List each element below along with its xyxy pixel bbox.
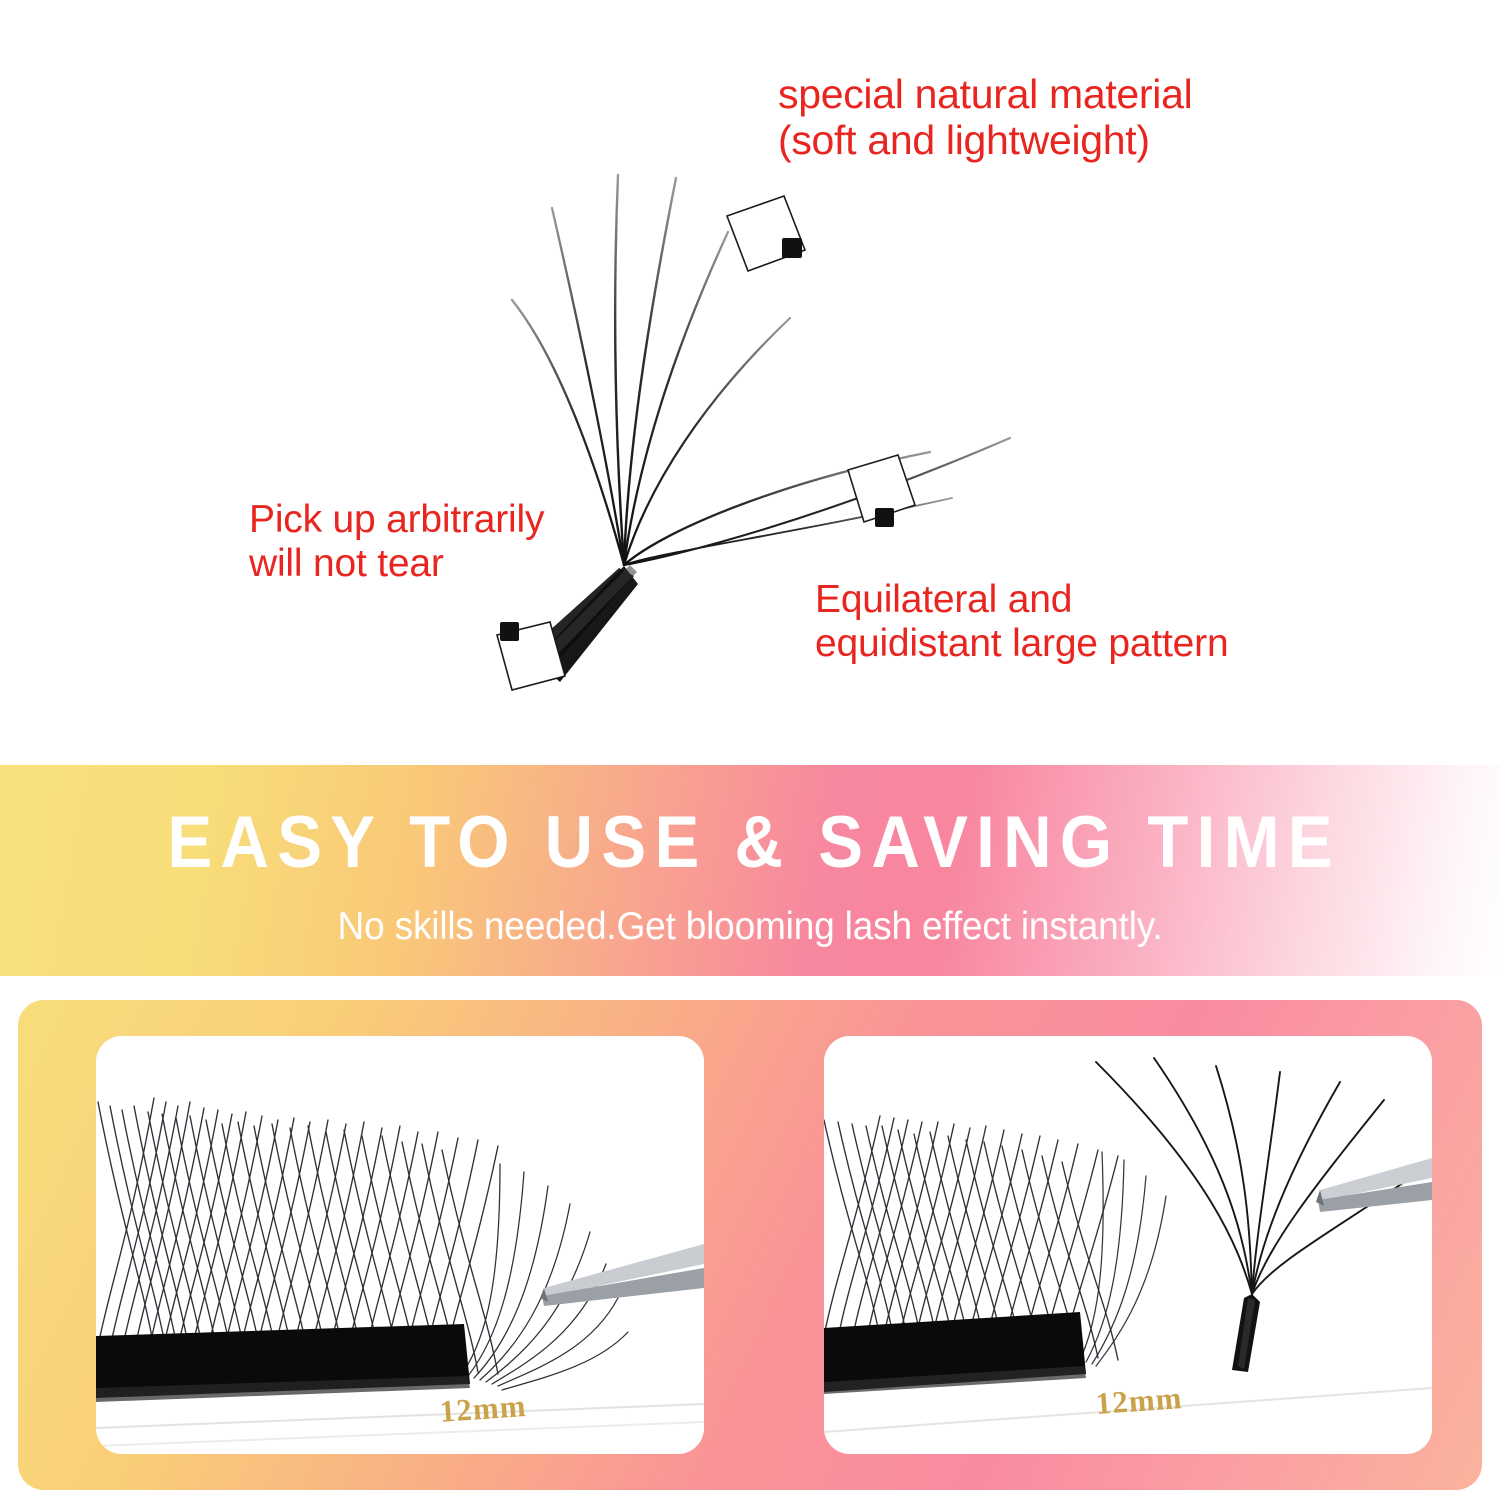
lifted-fan-photo: 12mm — [824, 1036, 1432, 1454]
callout-equilateral-pattern: Equilateral and equidistant large patter… — [815, 578, 1228, 665]
hero-section: special natural material (soft and light… — [0, 0, 1500, 765]
banner-headline: EASY TO USE & SAVING TIME — [60, 801, 1440, 884]
photo-card-lifted-fan-with-tweezers: 12mm — [824, 1036, 1432, 1454]
gallery-frame: 12mm — [18, 1000, 1482, 1490]
lash-fan-diagram — [0, 0, 1500, 765]
svg-text:12mm: 12mm — [439, 1388, 528, 1429]
svg-text:12mm: 12mm — [1095, 1380, 1184, 1421]
tray-size-caption: 12mm — [1095, 1380, 1184, 1421]
callout-marker-square-1 — [727, 196, 805, 271]
callout-pick-up-arbitrarily: Pick up arbitrarily will not tear — [249, 498, 544, 585]
product-feature-page: special natural material (soft and light… — [0, 0, 1500, 1500]
tray-size-caption: 12mm — [439, 1388, 528, 1429]
lash-tray-photo: 12mm — [96, 1036, 704, 1454]
banner-easy-to-use: EASY TO USE & SAVING TIME No skills need… — [0, 765, 1500, 976]
photo-card-lash-tray-with-tweezers: 12mm — [96, 1036, 704, 1454]
callout-special-natural-material: special natural material (soft and light… — [778, 72, 1192, 164]
banner-subheadline: No skills needed.Get blooming lash effec… — [38, 905, 1463, 949]
callout-marker-square-2 — [848, 455, 915, 527]
